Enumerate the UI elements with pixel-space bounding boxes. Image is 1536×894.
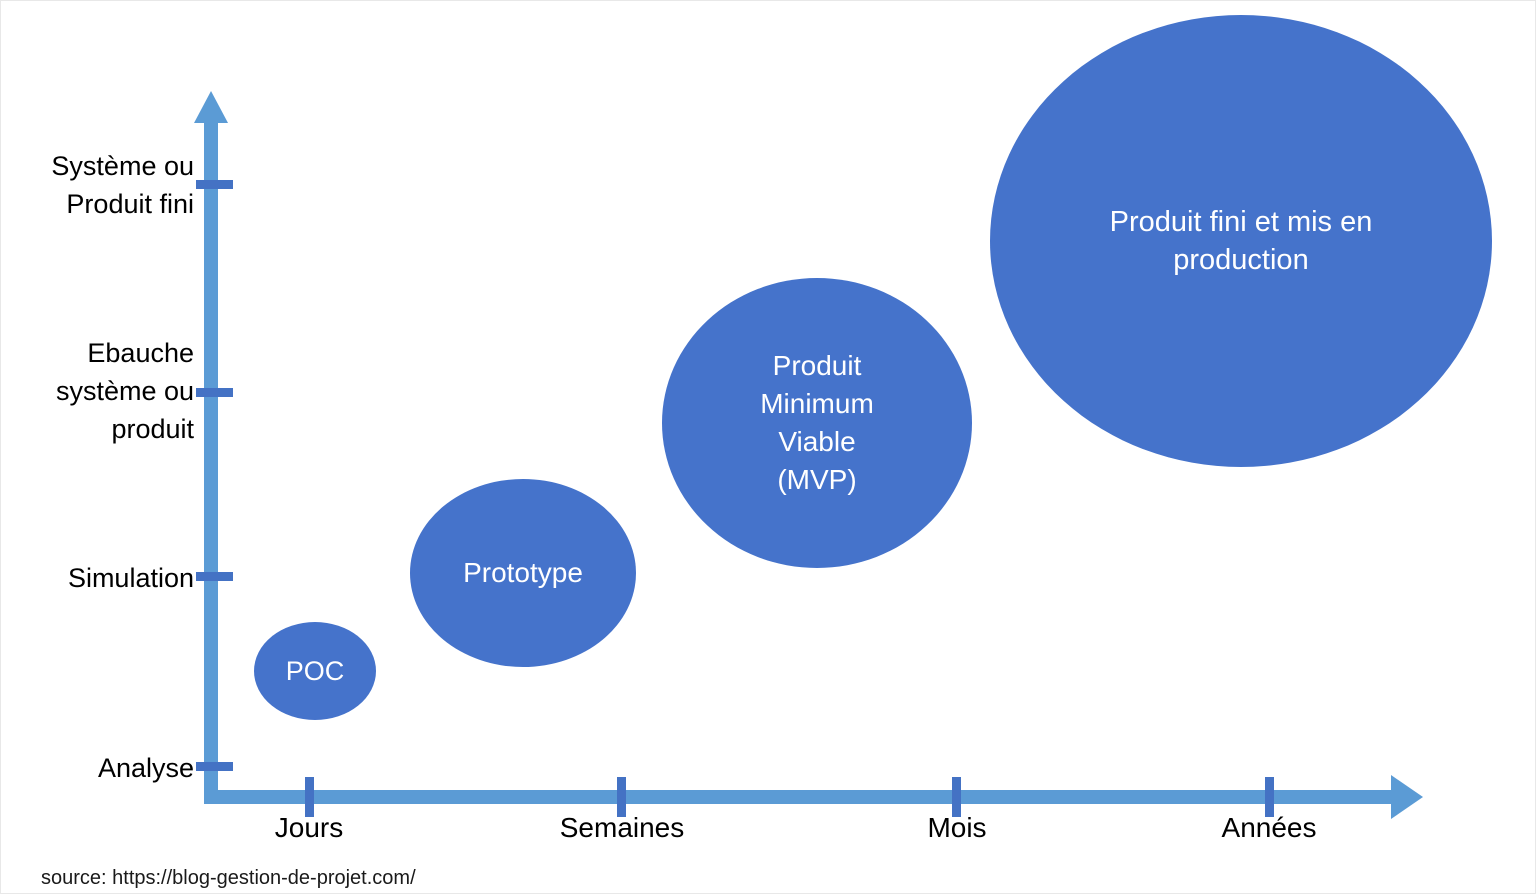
x-axis-label-annees: Années [1222,811,1317,845]
bubble-poc-label: POC [280,655,351,688]
bubble-mvp-label: Produit Minimum Viable (MVP) [754,347,880,499]
y-tick-ebauche-systeme-produit [196,388,233,397]
bubble-produit-fini[interactable]: Produit fini et mis en production [990,15,1492,467]
y-tick-simulation [196,572,233,581]
diagram-canvas: Système ou Produit fini Ebauche système … [0,0,1536,894]
y-axis-label-systeme-produit-fini: Système ou Produit fini [51,147,194,223]
y-axis-arrowhead-icon [194,91,228,123]
bubble-produit-fini-label: Produit fini et mis en production [1104,203,1379,279]
bubble-prototype-label: Prototype [457,556,589,590]
x-axis-line [204,790,1394,804]
x-axis-label-semaines: Semaines [560,811,685,845]
x-axis-arrowhead-icon [1391,775,1423,819]
y-axis-line [204,119,218,803]
bubble-poc[interactable]: POC [254,622,376,720]
bubble-prototype[interactable]: Prototype [410,479,636,667]
source-note: source: https://blog-gestion-de-projet.c… [41,867,416,890]
y-tick-systeme-produit-fini [196,180,233,189]
x-axis-label-mois: Mois [927,811,986,845]
y-tick-analyse [196,762,233,771]
x-axis-label-jours: Jours [275,811,343,845]
bubble-mvp[interactable]: Produit Minimum Viable (MVP) [662,278,972,568]
y-axis-label-simulation: Simulation [68,559,194,597]
y-axis-label-ebauche-systeme-produit: Ebauche système ou produit [56,334,194,448]
y-axis-label-analyse: Analyse [98,749,194,787]
